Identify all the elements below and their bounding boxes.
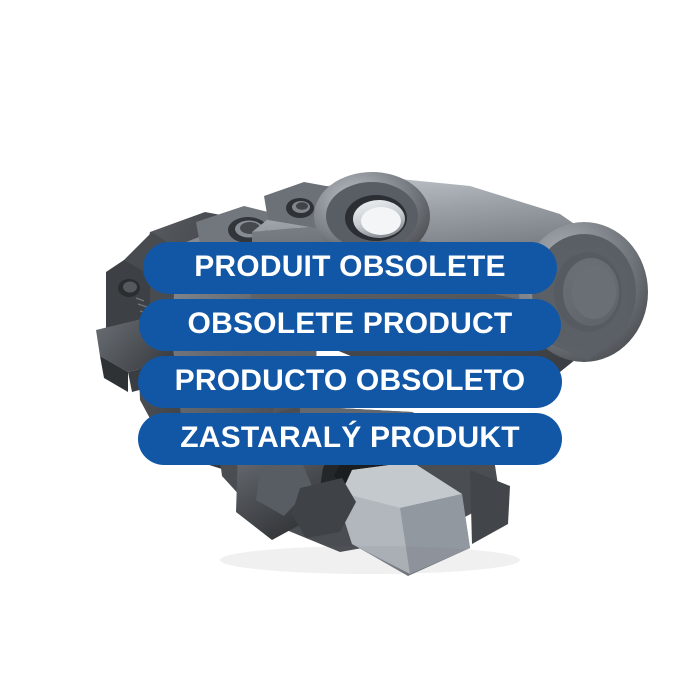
obsolete-badge-fr-label: PRODUIT OBSOLETE bbox=[194, 252, 506, 282]
obsolete-badge-fr: PRODUIT OBSOLETE bbox=[143, 242, 557, 294]
obsolete-badge-en: OBSOLETE PRODUCT bbox=[139, 299, 561, 351]
obsolete-badge-cs-label: ZASTARALÝ PRODUKT bbox=[180, 423, 520, 453]
product-image-canvas: PRODUIT OBSOLETE OBSOLETE PRODUCT PRODUC… bbox=[0, 0, 700, 700]
obsolete-badge-es-label: PRODUCTO OBSOLETO bbox=[175, 366, 526, 396]
obsolete-badge-cs: ZASTARALÝ PRODUKT bbox=[138, 413, 562, 465]
obsolete-badge-en-label: OBSOLETE PRODUCT bbox=[188, 309, 513, 339]
obsolete-badge-stack: PRODUIT OBSOLETE OBSOLETE PRODUCT PRODUC… bbox=[0, 242, 700, 465]
obsolete-badge-es: PRODUCTO OBSOLETO bbox=[138, 356, 562, 408]
